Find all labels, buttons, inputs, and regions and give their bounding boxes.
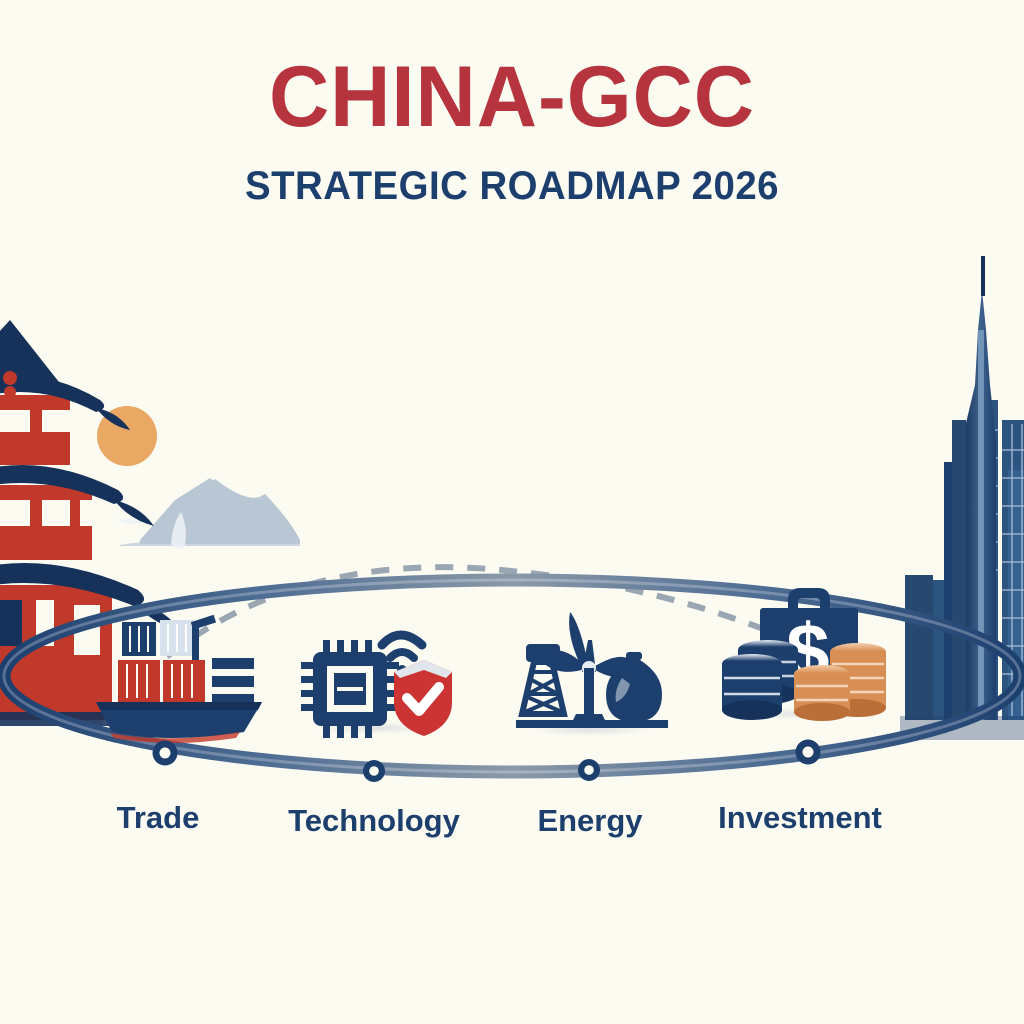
microchip-wifi-shield-icon [301,635,452,738]
milestone-label-investment[interactable]: Investment [718,800,882,836]
roadmap-infographic: CHINA-GCC STRATEGIC ROADMAP 2026 [0,0,1024,1024]
microchip-icon [301,640,399,738]
coin-stack-navy-front [722,654,782,720]
gcc-skyline-icon [900,256,1024,740]
milestone-label-technology[interactable]: Technology [288,803,460,839]
milestone-label-trade[interactable]: Trade [117,800,200,836]
coin-stack-copper-short [794,665,850,721]
milestone-label-energy[interactable]: Energy [537,803,642,839]
illustration-layer: $ [0,0,1024,1024]
oil-rig-wind-turbine-icon [516,612,668,736]
cargo-ship-icon [96,615,262,743]
mountains-icon [120,478,300,546]
